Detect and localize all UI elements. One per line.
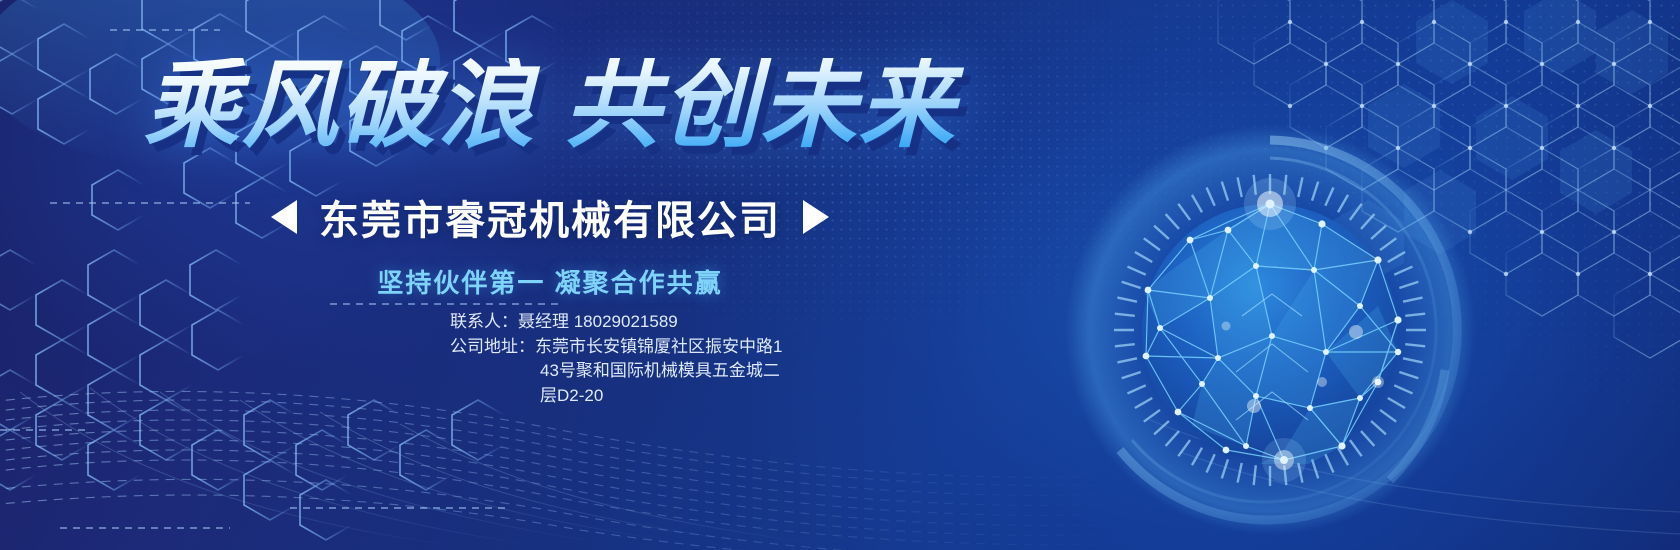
company-name: 东莞市睿冠机械有限公司 (319, 188, 781, 246)
promo-banner: 乘风破浪 共创未来 东莞市睿冠机械有限公司 坚持伙伴第一 凝聚合作共赢 联系人：… (0, 0, 1680, 550)
page-title: 乘风破浪 共创未来 (0, 58, 1100, 154)
address-line-1: 公司地址：东莞市长安镇锦厦社区振安中路1 (450, 335, 890, 360)
address-line-2: 43号聚和国际机械模具五金城二 (450, 359, 890, 384)
address-line-3: 层D2-20 (450, 384, 890, 409)
company-name-row: 东莞市睿冠机械有限公司 (0, 188, 1100, 246)
right-triangle-icon (803, 200, 829, 234)
left-triangle-icon (271, 200, 297, 234)
contact-person-line: 联系人：聂经理 18029021589 (450, 310, 890, 335)
slogan: 坚持伙伴第一 凝聚合作共赢 (0, 263, 1100, 300)
contact-block: 联系人：聂经理 18029021589 公司地址：东莞市长安镇锦厦社区振安中路1… (450, 310, 890, 409)
text-content: 乘风破浪 共创未来 东莞市睿冠机械有限公司 坚持伙伴第一 凝聚合作共赢 联系人：… (0, 0, 1100, 550)
tech-wireframe-globe (1060, 120, 1480, 540)
